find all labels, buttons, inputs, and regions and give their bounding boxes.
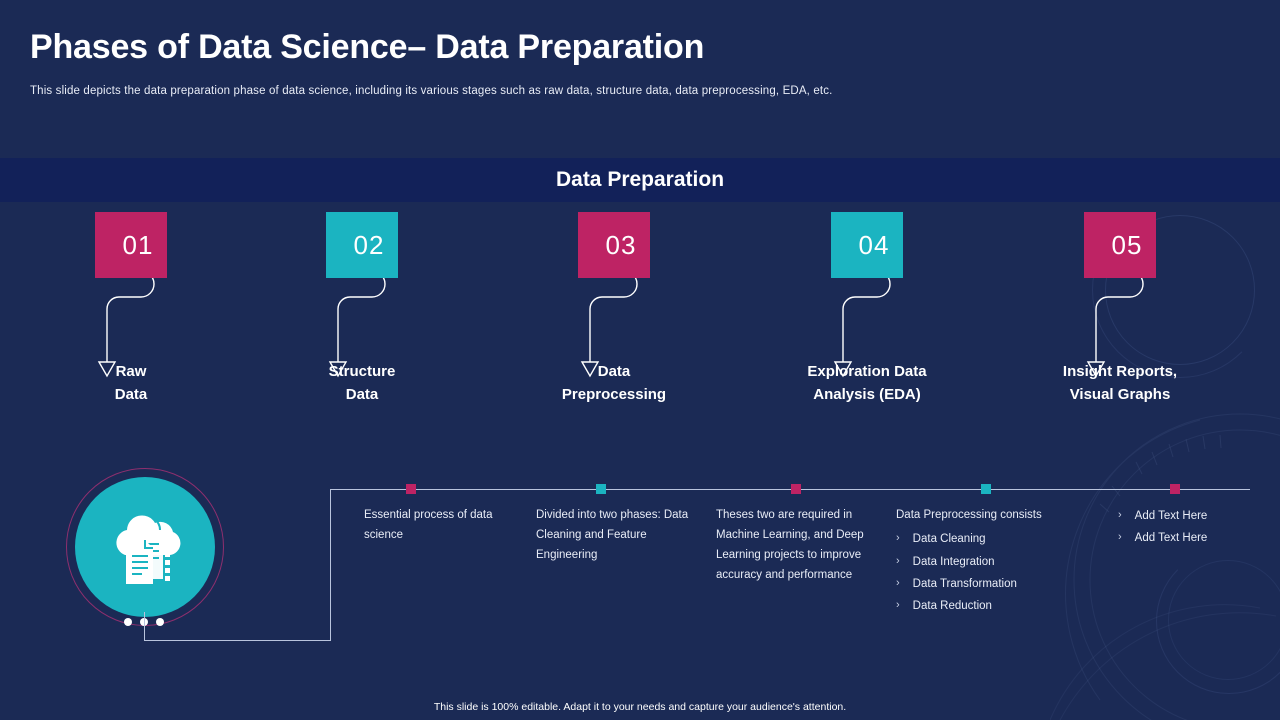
list-item[interactable]: › Add Text Here: [1118, 505, 1268, 527]
step-05-box: 05: [1084, 212, 1156, 278]
step-03-box: 03: [578, 212, 650, 278]
step-04-box: 04: [831, 212, 903, 278]
detail-column-5: › Add Text Here › Add Text Here: [1118, 505, 1268, 550]
chevron-right-icon: ›: [896, 573, 900, 594]
step-03[interactable]: 03 Data Preprocessing: [489, 212, 739, 278]
detail-column-4-bullet-1: Data Cleaning: [913, 528, 986, 550]
step-02-box: 02: [326, 212, 398, 278]
detail-column-1: Essential process of data science: [364, 505, 514, 545]
step-02[interactable]: 02 Structure Data: [237, 212, 487, 278]
detail-marker-2: [596, 484, 606, 494]
detail-marker-5: [1170, 484, 1180, 494]
list-item[interactable]: › Data Reduction: [896, 595, 1116, 617]
step-02-label-line2: Data: [346, 386, 379, 403]
detail-column-3-body: Theses two are required in Machine Learn…: [716, 505, 886, 586]
detail-panel-top-rule: [330, 489, 1250, 490]
page-title: Phases of Data Science– Data Preparation: [30, 28, 704, 67]
detail-panel-bottom-rule: [144, 640, 331, 641]
detail-column-3: Theses two are required in Machine Learn…: [716, 505, 886, 586]
detail-column-2: Divided into two phases: Data Cleaning a…: [536, 505, 696, 565]
step-01-number: 01: [123, 230, 154, 261]
chevron-right-icon: ›: [896, 595, 900, 616]
list-item[interactable]: › Add Text Here: [1118, 527, 1268, 549]
badge-dot: [124, 618, 132, 626]
step-05-label-line1: Insight Reports,: [1063, 363, 1177, 380]
step-01-label-line1: Raw: [116, 363, 147, 380]
slide-canvas: Phases of Data Science– Data Preparation…: [0, 0, 1280, 720]
step-03-label-line2: Preprocessing: [562, 386, 666, 403]
step-02-label: Structure Data: [237, 360, 487, 407]
detail-column-4-bullet-2: Data Integration: [913, 551, 995, 573]
cloud-documents-icon: [97, 504, 193, 590]
decorative-arc-bottom-right: [1156, 548, 1280, 694]
detail-column-4-bullet-3: Data Transformation: [913, 573, 1017, 595]
detail-marker-4: [981, 484, 991, 494]
step-03-number: 03: [606, 230, 637, 261]
detail-column-4: Data Preprocessing consists › Data Clean…: [896, 505, 1116, 618]
step-02-number: 02: [354, 230, 385, 261]
step-02-label-line1: Structure: [329, 363, 396, 380]
step-04-label-line1: Exploration Data: [807, 363, 926, 380]
decorative-ring-bottom-right: [1168, 560, 1280, 680]
detail-column-5-bullet-2: Add Text Here: [1135, 527, 1208, 549]
detail-column-4-title: Data Preprocessing consists: [896, 505, 1116, 525]
step-05-number: 05: [1112, 230, 1143, 261]
page-subtitle: This slide depicts the data preparation …: [30, 85, 1130, 97]
detail-column-1-body: Essential process of data science: [364, 505, 514, 545]
badge-dot: [156, 618, 164, 626]
step-01[interactable]: 01 Raw Data: [6, 212, 256, 278]
badge-inner-circle: [75, 477, 215, 617]
detail-panel-drop-rule: [144, 612, 145, 641]
detail-column-2-body: Divided into two phases: Data Cleaning a…: [536, 505, 696, 565]
chevron-right-icon: ›: [1118, 505, 1122, 526]
detail-marker-1: [406, 484, 416, 494]
step-05-label: Insight Reports, Visual Graphs: [995, 360, 1245, 407]
step-04-label: Exploration Data Analysis (EDA): [742, 360, 992, 407]
list-item[interactable]: › Data Transformation: [896, 573, 1116, 595]
footer-note: This slide is 100% editable. Adapt it to…: [0, 701, 1280, 713]
step-04-number: 04: [859, 230, 890, 261]
list-item[interactable]: › Data Integration: [896, 551, 1116, 573]
step-04-label-line2: Analysis (EDA): [813, 386, 921, 403]
step-03-label: Data Preprocessing: [489, 360, 739, 407]
section-banner: Data Preparation: [0, 158, 1280, 202]
cloud-documents-badge: [66, 468, 224, 626]
step-03-label-line1: Data: [598, 363, 631, 380]
chevron-right-icon: ›: [896, 551, 900, 572]
detail-panel-left-rule: [330, 489, 331, 641]
step-01-box: 01: [95, 212, 167, 278]
detail-column-4-bullet-4: Data Reduction: [913, 595, 992, 617]
detail-column-5-bullet-1: Add Text Here: [1135, 505, 1208, 527]
step-05-label-line2: Visual Graphs: [1070, 386, 1171, 403]
section-banner-title: Data Preparation: [556, 168, 724, 192]
step-05[interactable]: 05 Insight Reports, Visual Graphs: [995, 212, 1245, 278]
chevron-right-icon: ›: [896, 528, 900, 549]
step-01-label: Raw Data: [6, 360, 256, 407]
chevron-right-icon: ›: [1118, 527, 1122, 548]
step-04[interactable]: 04 Exploration Data Analysis (EDA): [742, 212, 992, 278]
step-01-label-line2: Data: [115, 386, 148, 403]
list-item[interactable]: › Data Cleaning: [896, 528, 1116, 550]
detail-marker-3: [791, 484, 801, 494]
